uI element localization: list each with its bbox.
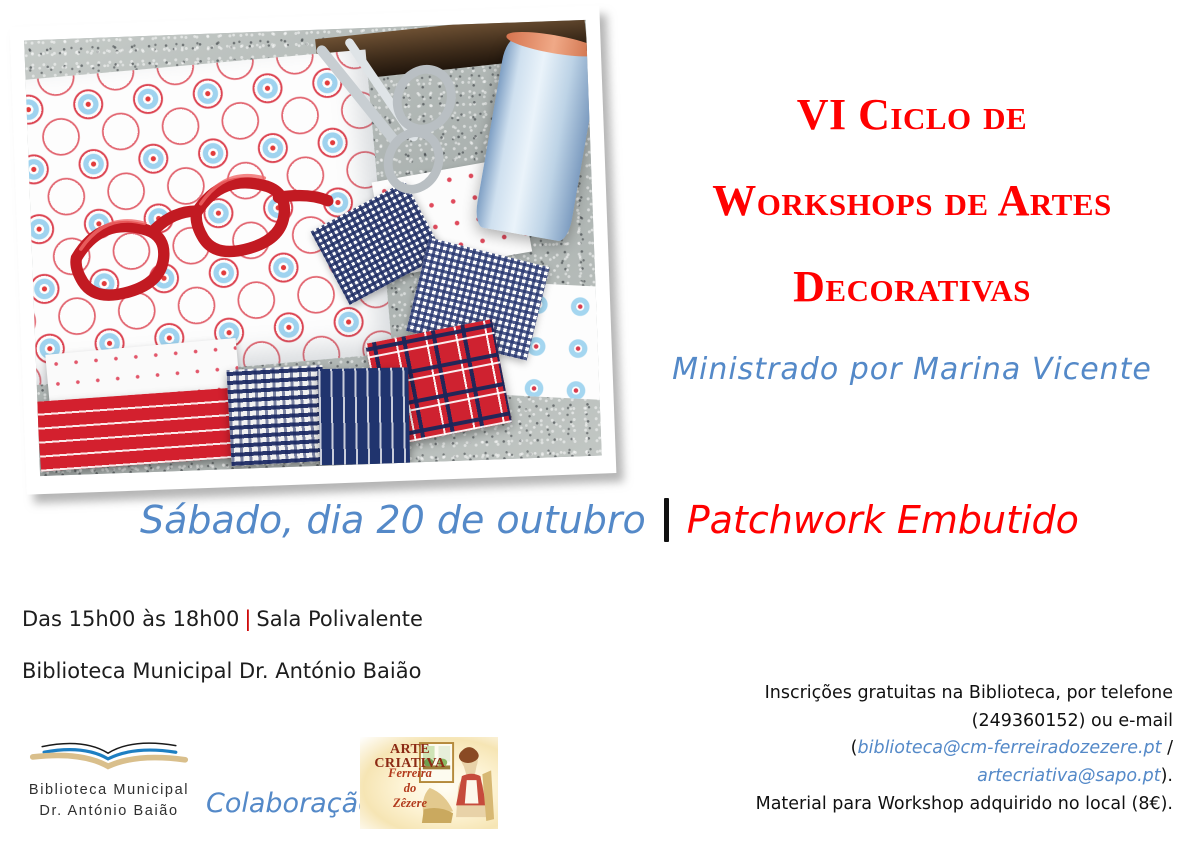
arte-criativa-sub-2: do [364,782,456,795]
biblioteca-logo-line-2: Dr. António Baião [14,801,204,822]
photo-folded-navy-check-fabric [227,365,328,466]
title-line-3: Decorativas [648,244,1176,330]
title-line-2: Workshops de Artes [648,158,1176,244]
event-room: Sala Polivalente [256,607,423,631]
detail-row-venue: Biblioteca Municipal Dr. António Baião [22,658,423,684]
event-date: Sábado, dia 20 de outubro [140,498,646,542]
collaboration-label: Colaboração: [206,788,384,819]
arte-criativa-logo: ARTE CRIATIVA Ferreira do Zêzere [360,737,498,829]
date-separator-bar [664,498,669,542]
poster-canvas: VI Ciclo de Workshops de Artes Decorativ… [0,0,1191,842]
photo-folded-blue-fabric [318,367,410,465]
photo-frame [10,5,617,494]
contact-line-4: artecriativa@sapo.pt). [755,763,1173,791]
date-and-workshop-strip: Sábado, dia 20 de outubro Patchwork Embu… [140,498,1090,542]
email-slash: / [1162,738,1173,758]
email-biblioteca[interactable]: biblioteca@cm-ferreiradozezere.pt [857,738,1161,758]
event-time: Das 15h00 às 18h00 [22,607,239,631]
contact-line-2: (249360152) ou e-mail [755,708,1173,736]
contact-line-5: Material para Workshop adquirido no loca… [755,791,1173,819]
biblioteca-logo-line-1: Biblioteca Municipal [14,780,204,801]
biblioteca-logo: Biblioteca Municipal Dr. António Baião [14,738,204,822]
event-details: Das 15h00 às 18h00|Sala Polivalente Bibl… [22,606,423,711]
event-venue: Biblioteca Municipal Dr. António Baião [22,659,421,683]
email-artecriativa[interactable]: artecriativa@sapo.pt [977,766,1160,786]
workshop-name: Patchwork Embutido [687,498,1079,542]
arte-criativa-sub-3: Zêzere [364,797,456,810]
contact-line-3: (biblioteca@cm-ferreiradozezere.pt / [755,735,1173,763]
contact-line-1: Inscrições gratuitas na Biblioteca, por … [755,680,1173,708]
detail-separator: | [239,607,256,631]
title-line-1: VI Ciclo de [648,72,1176,158]
presenter-subtitle: Ministrado por Marina Vicente [648,352,1176,387]
contact-info-block: Inscrições gratuitas na Biblioteca, por … [755,680,1173,818]
poster-title: VI Ciclo de Workshops de Artes Decorativ… [648,72,1176,330]
workshop-photo [24,20,602,476]
open-book-icon [29,738,189,774]
close-paren: ). [1161,766,1173,786]
arte-criativa-sub-1: Ferreira [364,767,456,780]
detail-row-time-room: Das 15h00 às 18h00|Sala Polivalente [22,606,423,632]
photo-folded-red-fabric [36,387,243,471]
